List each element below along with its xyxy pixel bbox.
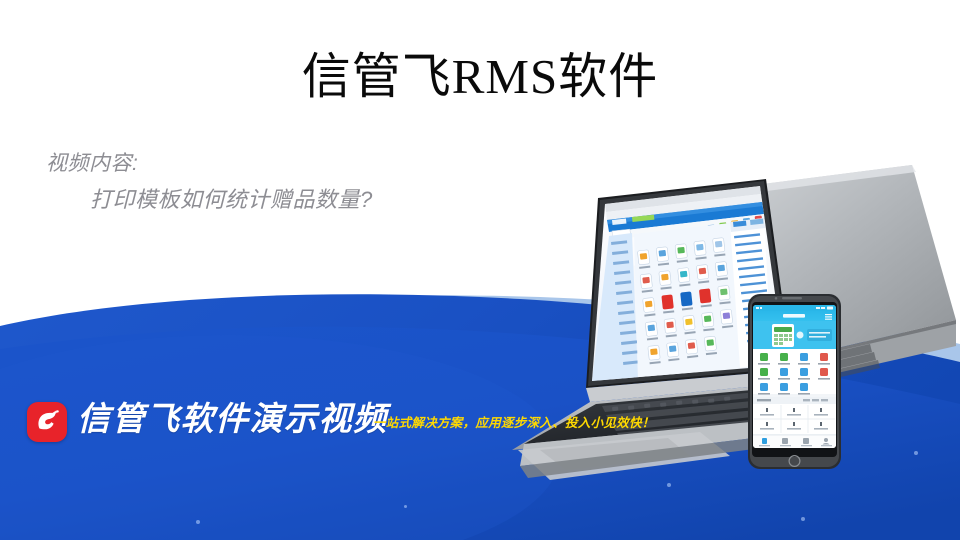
subtitle-topic: 打印模板如何统计赠品数量? xyxy=(46,182,373,218)
banner-brand: 信管飞软件演示视频 xyxy=(77,399,388,439)
banner-tagline: 一站式解决方案，应用逐步深入、投入小见效快！ xyxy=(373,414,655,432)
decor-dot xyxy=(914,451,918,455)
bottom-banner: 信管飞软件演示视频 一站式解决方案，应用逐步深入、投入小见效快！ xyxy=(0,458,960,540)
feiniao-logo-icon xyxy=(27,402,67,442)
slide-root: 信管飞RMS软件 视频内容: 打印模板如何统计赠品数量? 信管飞软件演示视频 一… xyxy=(0,0,960,540)
phone-screen-content xyxy=(753,305,836,448)
subtitle-block: 视频内容: 打印模板如何统计赠品数量? xyxy=(46,146,373,218)
subtitle-label: 视频内容: xyxy=(46,146,373,182)
page-title: 信管飞RMS软件 xyxy=(0,46,960,108)
laptop-screen-content xyxy=(592,186,775,381)
phone-device xyxy=(748,294,841,469)
